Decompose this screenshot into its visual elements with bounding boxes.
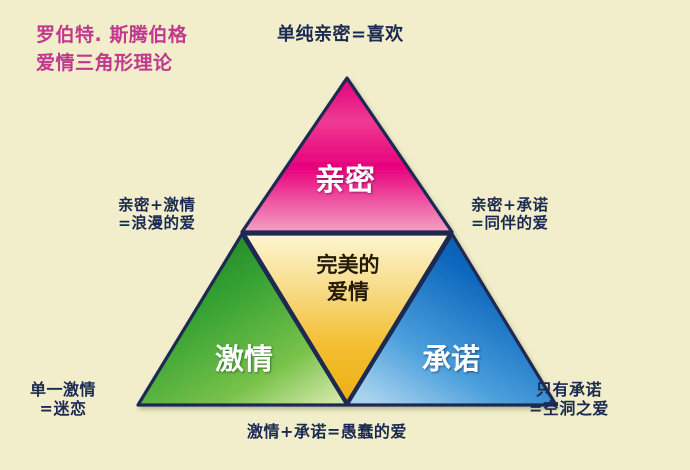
- diagram-canvas: 罗伯特. 斯腾伯格 爱情三角形理论 亲密 激情 承诺 完美的 爱情 单纯亲密=喜…: [0, 0, 690, 470]
- annotation-left-upper: 亲密+激情 =浪漫的爱: [118, 196, 196, 233]
- annotation-right-upper: 亲密+承诺 =同伴的爱: [471, 196, 549, 233]
- region-intimacy[interactable]: [242, 78, 452, 232]
- annotation-bottom-center: 激情+承诺=愚蠢的爱: [247, 423, 407, 442]
- annotation-bottom-left: 单一激情 =迷恋: [30, 381, 96, 419]
- annotation-bottom-right: 只有承诺 =空洞之爱: [529, 381, 609, 419]
- annotation-top: 单纯亲密=喜欢: [277, 24, 404, 45]
- page-title: 罗伯特. 斯腾伯格 爱情三角形理论: [36, 22, 187, 77]
